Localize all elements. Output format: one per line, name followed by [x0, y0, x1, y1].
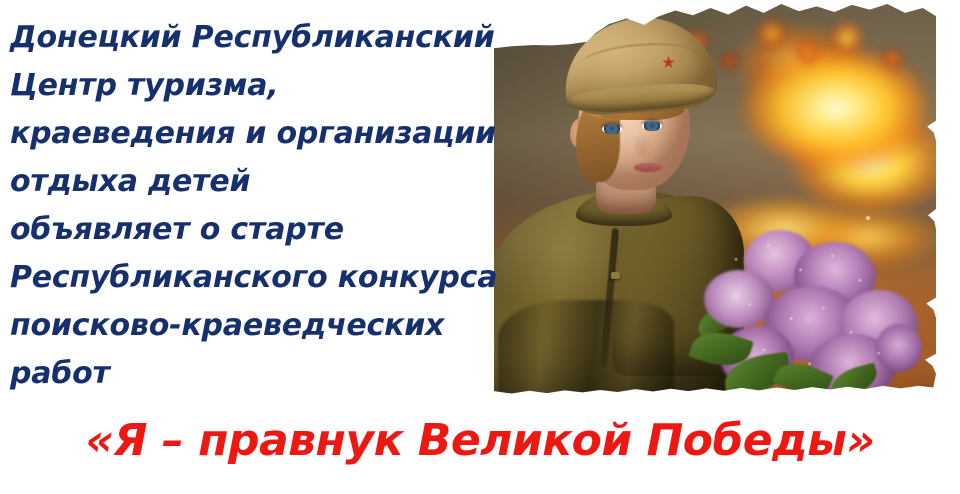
- announcement-line-4: отдыха детей: [10, 158, 510, 206]
- announcement-poster: Донецкий Республиканский Центр туризма, …: [0, 0, 960, 494]
- boy-tunic-button: [611, 272, 620, 279]
- boy-eye-left: [602, 124, 622, 134]
- announcement-line-5: объявляет о старте: [10, 206, 510, 254]
- announcement-line-3: краеведения и организации: [10, 110, 510, 158]
- contest-title: «Я – правнук Великой Победы»: [0, 412, 960, 470]
- announcement-line-6: Республиканского конкурса: [10, 254, 510, 302]
- boy-mouth: [634, 163, 662, 172]
- boy-nose: [634, 132, 656, 158]
- boy-eye-right: [642, 121, 662, 131]
- announcement-line-8: работ: [10, 350, 510, 398]
- announcement-text-block: Донецкий Республиканский Центр туризма, …: [10, 14, 510, 398]
- announcement-line-2: Центр туризма,: [10, 62, 510, 110]
- announcement-line-1: Донецкий Республиканский: [10, 14, 510, 62]
- announcement-line-7: поисково-краеведческих: [10, 302, 510, 350]
- boy-eyebrow-left: [600, 114, 624, 119]
- photo-boy-with-lilacs: [494, 0, 936, 402]
- lilac-bouquet: [690, 228, 920, 402]
- boy-sleeve-folds: [498, 300, 674, 400]
